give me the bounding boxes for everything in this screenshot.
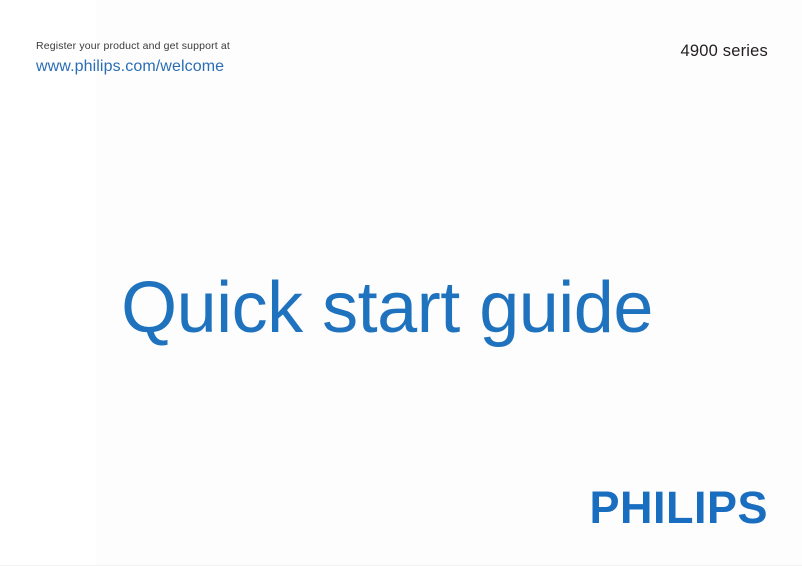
product-series-label: 4900 series	[680, 42, 768, 61]
philips-wordmark-logo: PHILIPS	[589, 485, 768, 530]
support-url-link[interactable]: www.philips.com/welcome	[36, 59, 230, 75]
page-title: Quick start guide	[0, 272, 802, 344]
register-block: Register your product and get support at…	[36, 41, 230, 75]
guide-cover-page: Register your product and get support at…	[0, 0, 802, 566]
page-title-text: Quick start guide	[121, 272, 653, 344]
register-prompt-text: Register your product and get support at	[36, 41, 230, 52]
